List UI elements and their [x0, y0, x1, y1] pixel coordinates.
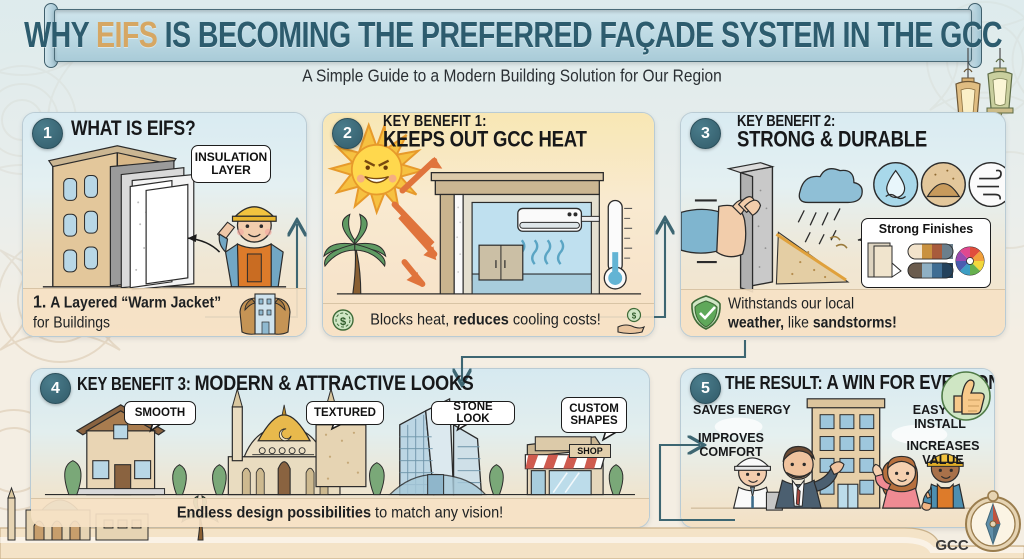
thermometer-icon — [604, 200, 632, 288]
dollar-coin-icon: $ — [331, 308, 355, 332]
panel-4-title: KEY BENEFIT 3: MODERN & ATTRACTIVE LOOKS — [77, 370, 474, 395]
shield-check-icon — [689, 294, 723, 332]
compass-icon — [962, 488, 1024, 554]
panel-3-caption-b: like — [784, 313, 813, 331]
page-title-pre: WHY — [24, 15, 96, 55]
panel-1-caption-number: 1. — [33, 294, 46, 313]
callout-text: CUSTOM SHAPES — [567, 403, 621, 427]
thumbs-up-icon — [940, 370, 992, 422]
page-subtitle: A Simple Guide to a Modern Building Solu… — [0, 67, 1024, 87]
color-wheel-icon — [956, 247, 984, 275]
panel-3-caption-bold2: sandstorms! — [813, 313, 897, 331]
panel-2-badge: 2 — [332, 118, 363, 149]
panel-2-caption-bold: reduces — [453, 311, 509, 329]
callout-strong-finishes: Strong Finishes — [861, 218, 991, 288]
callout-insulation-layer: INSULATION LAYER — [191, 145, 271, 183]
panel-keeps-out-heat[interactable]: KEY BENEFIT 1: KEEPS OUT GCC HEAT $ Bloc… — [322, 112, 655, 337]
panel-1-title: WHAT IS EIFS? — [71, 115, 195, 140]
callout-stone-look: STONE LOOK — [431, 401, 515, 425]
money-hand-icon: $ — [616, 307, 646, 333]
worker-pointing-icon — [218, 207, 284, 287]
panel-2-heading: KEEPS OUT GCC HEAT — [383, 128, 587, 150]
panel-2-caption-b: cooling costs! — [509, 311, 601, 329]
warm-jacket-building-icon — [234, 290, 296, 336]
panel-modern-looks[interactable]: KEY BENEFIT 3: MODERN & ATTRACTIVE LOOKS… — [30, 368, 650, 528]
callout-custom-shapes: CUSTOM SHAPES — [561, 397, 627, 433]
panel-5-kicker: THE RESULT: — [725, 373, 827, 393]
texture-swatch — [316, 425, 366, 487]
panel-1-caption-rest: for Buildings — [33, 314, 110, 332]
page-title-post: IS BECOMING THE PREFERRED FAÇADE SYSTEM … — [157, 15, 1002, 55]
shop-sign: SHOP — [569, 444, 611, 458]
panel-4-badge: 4 — [40, 373, 71, 404]
panel-2-title: KEY BENEFIT 1: KEEPS OUT GCC HEAT — [383, 113, 587, 151]
panel-3-caption-a: Withstands our local — [728, 295, 897, 313]
panel-3-title: KEY BENEFIT 2: STRONG & DURABLE — [737, 113, 927, 151]
benefit-improves-comfort: IMPROVES COMFORT — [689, 431, 773, 459]
callout-text: INSULATION LAYER — [195, 151, 267, 176]
panel-3-badge: 3 — [690, 118, 721, 149]
sandstorm-icon — [776, 232, 848, 284]
panel-4-caption-rest: to match any vision! — [371, 504, 503, 522]
callout-text: STONE LOOK — [437, 401, 509, 425]
svg-text:$: $ — [632, 312, 637, 321]
panel-what-is-eifs[interactable]: WHAT IS EIFS? INSULATION LAYER 1. A Laye… — [22, 112, 307, 337]
rain-cloud-icon — [798, 169, 862, 245]
panel-1-caption-bold: A Layered “Warm Jacket” — [50, 294, 221, 312]
callout-smooth: SMOOTH — [124, 401, 196, 425]
insulated-building-section — [431, 173, 603, 294]
benefit-saves-energy: SAVES ENERGY — [693, 403, 791, 417]
title-banner: WHY EIFS IS BECOMING THE PREFERRED FAÇAD… — [44, 9, 982, 62]
panel-1-badge: 1 — [32, 118, 63, 149]
building-layers-diagram — [49, 146, 194, 290]
finish-swatches-icon — [866, 239, 986, 283]
svg-text:$: $ — [340, 316, 346, 328]
callout-text: SMOOTH — [135, 407, 185, 419]
panel-strong-durable[interactable]: KEY BENEFIT 2: STRONG & DURABLE Strong F… — [680, 112, 1006, 337]
panel-5-badge: 5 — [690, 373, 721, 404]
panel-4-heading: MODERN & ATTRACTIVE LOOKS — [195, 370, 474, 394]
wind-icon — [969, 163, 1006, 207]
page-title: WHY EIFS IS BECOMING THE PREFERRED FAÇAD… — [24, 15, 1002, 56]
panel-4-caption-bold: Endless design possibilities — [177, 504, 371, 522]
panel-3-caption-bold1: weather, — [728, 313, 784, 331]
panel-4-kicker: KEY BENEFIT 3: — [77, 374, 195, 394]
benefit-increases-value: INCREASES VALUE — [900, 439, 986, 467]
panel-2-caption-a: Blocks heat, — [370, 311, 453, 329]
callout-textured: TEXTURED — [306, 401, 384, 425]
callout-text: TEXTURED — [314, 407, 376, 419]
callout-strong-finishes-title: Strong Finishes — [879, 223, 973, 236]
panel-3-heading: STRONG & DURABLE — [737, 128, 927, 150]
palm-tree-icon — [324, 214, 386, 294]
weather-icon-row — [874, 163, 1006, 207]
page-title-highlight: EIFS — [96, 15, 157, 55]
